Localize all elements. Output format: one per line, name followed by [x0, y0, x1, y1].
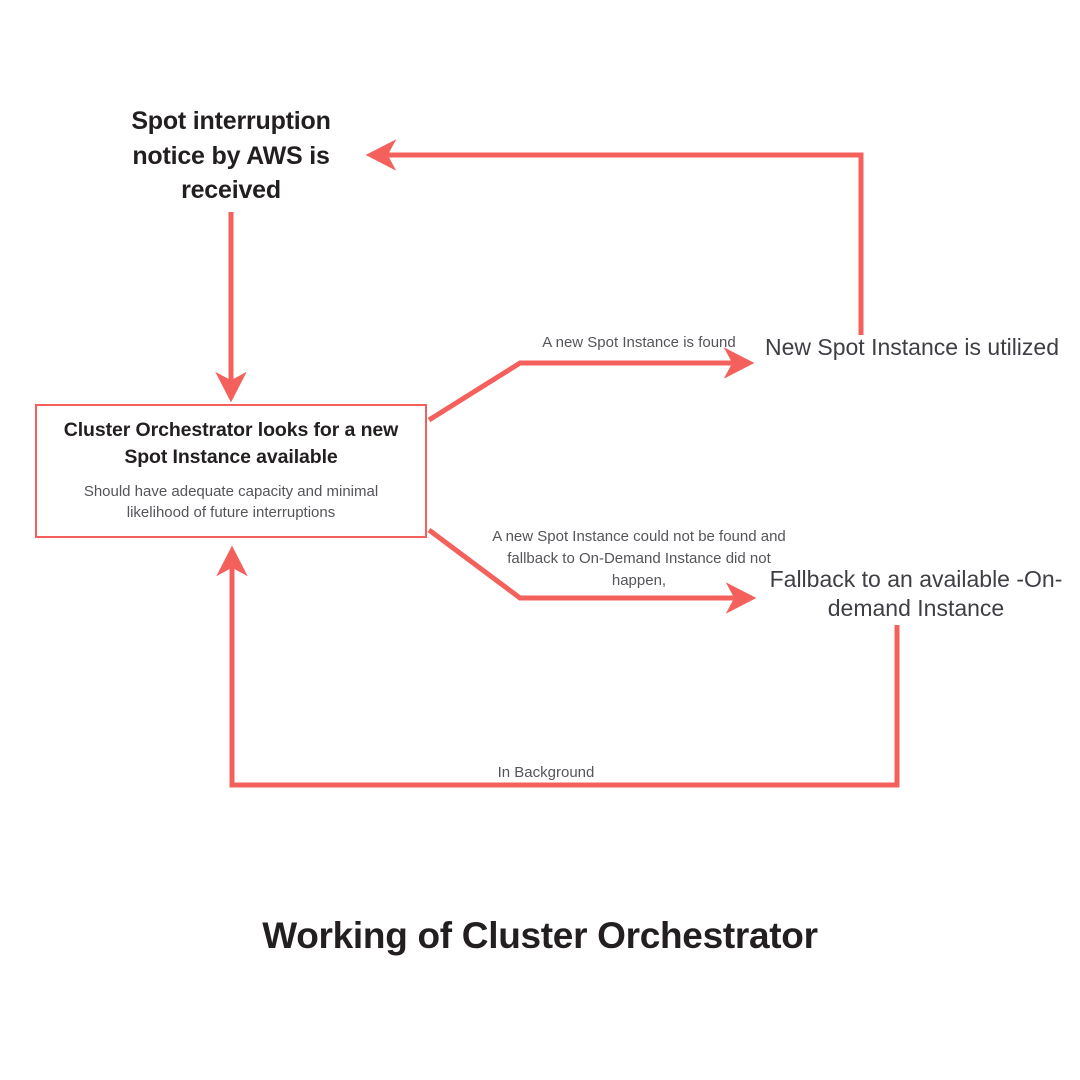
- edge-new-spot-to-notice: [370, 155, 861, 335]
- node-spot-interruption-notice: Spot interruption notice by AWS is recei…: [100, 104, 362, 208]
- node-fallback-on-demand-instance-title: Fallback to an available -On-demand Inst…: [760, 565, 1072, 624]
- node-cluster-orchestrator-title: Cluster Orchestrator looks for a new Spo…: [51, 417, 411, 471]
- node-cluster-orchestrator: Cluster Orchestrator looks for a new Spo…: [35, 404, 427, 538]
- edge-label-spot-instance-found: A new Spot Instance is found: [489, 332, 789, 354]
- edge-orchestrator-to-new-spot: [429, 363, 750, 420]
- node-new-spot-instance-utilized: New Spot Instance is utilized: [752, 333, 1072, 362]
- node-new-spot-instance-utilized-title: New Spot Instance is utilized: [752, 333, 1072, 362]
- edge-label-in-background: In Background: [446, 762, 646, 784]
- diagram-canvas: Spot interruption notice by AWS is recei…: [0, 0, 1080, 1080]
- diagram-caption: Working of Cluster Orchestrator: [0, 915, 1080, 957]
- edge-label-spot-instance-not-found: A new Spot Instance could not be found a…: [489, 526, 789, 591]
- node-cluster-orchestrator-subtitle: Should have adequate capacity and minima…: [51, 481, 411, 524]
- node-spot-interruption-notice-title: Spot interruption notice by AWS is recei…: [100, 104, 362, 208]
- node-fallback-on-demand-instance: Fallback to an available -On-demand Inst…: [760, 565, 1072, 624]
